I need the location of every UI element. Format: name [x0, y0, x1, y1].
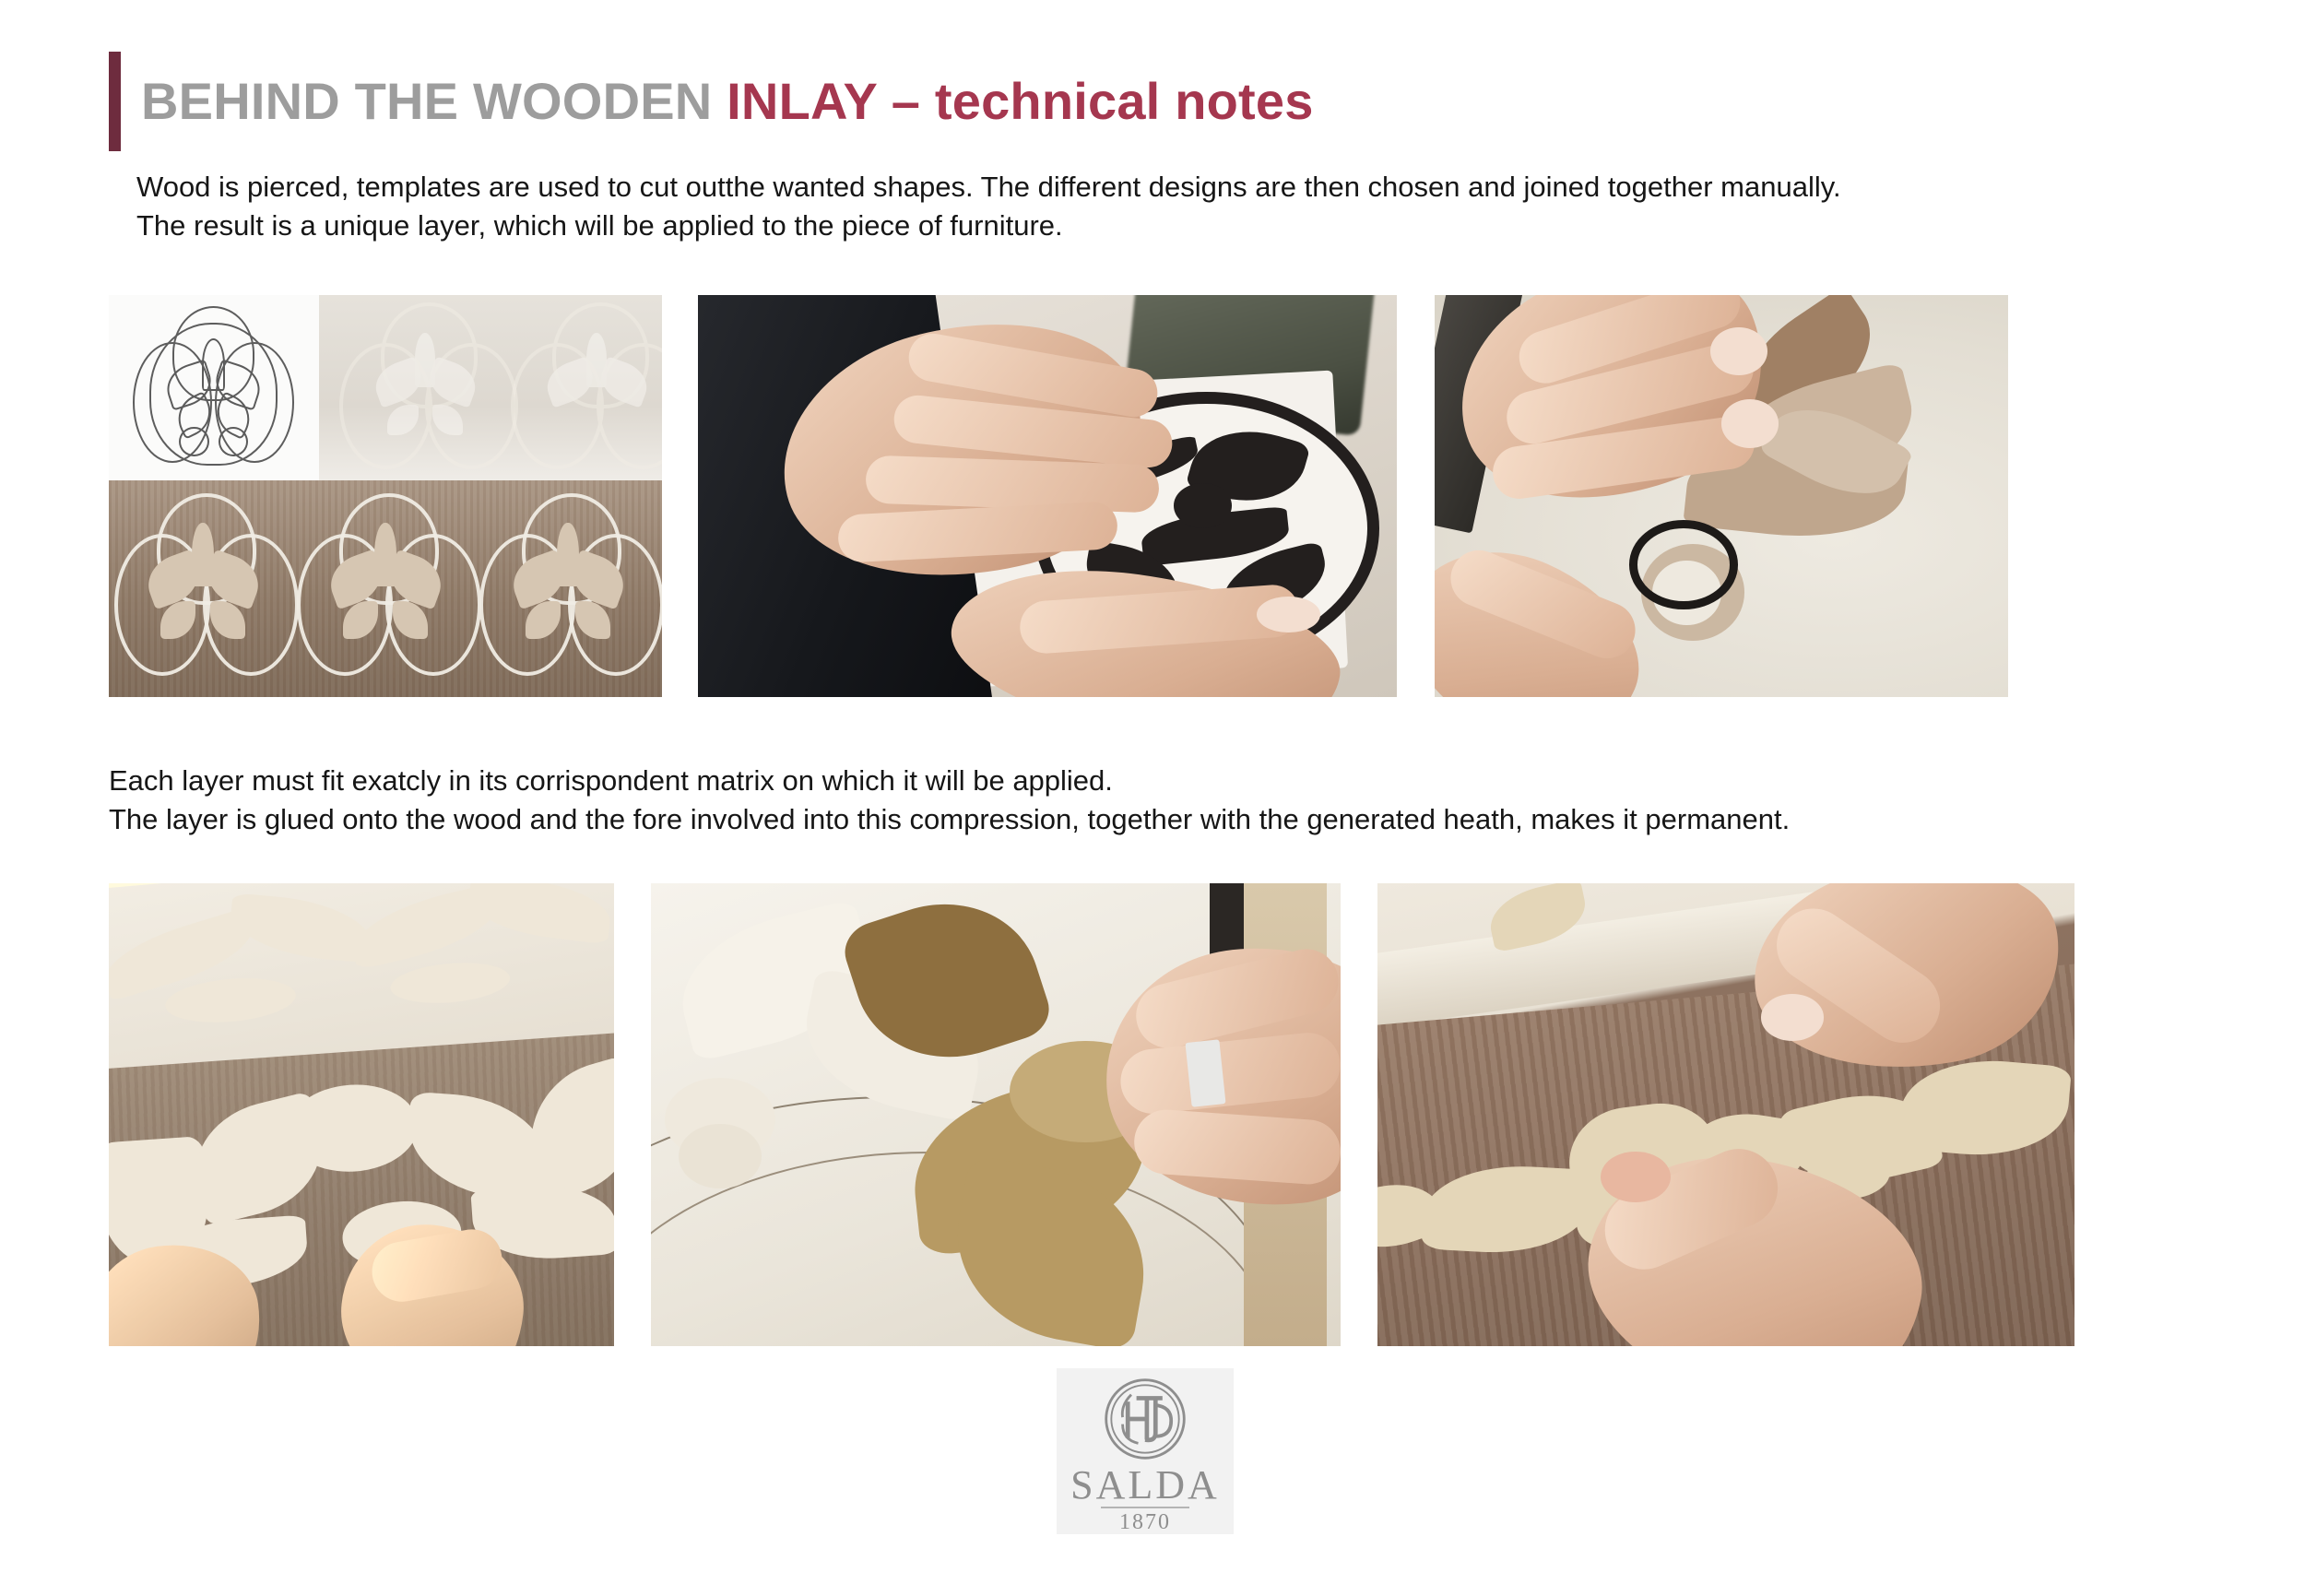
title-accent-bar: [109, 52, 121, 151]
photo-inlay-into-walnut-board: [1377, 883, 2074, 1346]
salda-logo: SALDA 1870: [1057, 1368, 1234, 1534]
photo-fitting-layer-into-matrix: [651, 883, 1341, 1346]
salda-year: 1870: [1057, 1507, 1234, 1538]
title-part-accent: INLAY – technical notes: [727, 72, 1313, 130]
intro-paragraph-line-2: The result is a unique layer, which will…: [136, 207, 2146, 245]
salda-monogram-emblem: [1102, 1376, 1188, 1462]
intro-paragraph: Wood is pierced, templates are used to c…: [136, 168, 2146, 245]
title-part-primary: BEHIND THE WOODEN: [141, 72, 727, 130]
process-paragraph: Each layer must fit exatcly in its corri…: [109, 762, 2193, 839]
photo-scroll-saw-cutting-template: [698, 295, 1397, 697]
photo-palmette-template-and-wood-border: [109, 295, 662, 697]
intro-paragraph-line-1: Wood is pierced, templates are used to c…: [136, 168, 2146, 207]
salda-wordmark: SALDA: [1057, 1464, 1234, 1507]
title-text: BEHIND THE WOODEN INLAY – technical note…: [141, 52, 1314, 151]
page-title: BEHIND THE WOODEN INLAY – technical note…: [109, 52, 1314, 151]
photo-assembling-acanthus-pieces: [1435, 295, 2008, 697]
process-paragraph-line-1: Each layer must fit exatcly in its corri…: [109, 762, 2193, 800]
photo-sepia-fretwork-layer-on-panel: [109, 883, 614, 1346]
process-paragraph-line-2: The layer is glued onto the wood and the…: [109, 800, 2193, 839]
